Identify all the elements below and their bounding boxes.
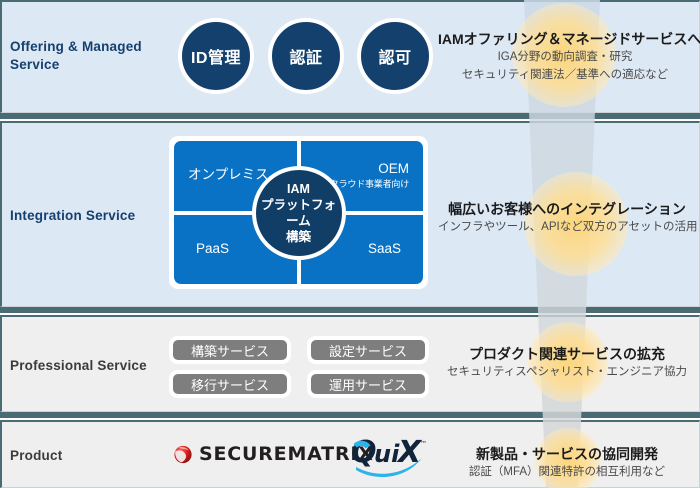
band-separator-3: [0, 412, 700, 418]
svg-text:X: X: [396, 435, 423, 470]
headline-offering-managed-service: IAMオファリング＆マネージドサービスへ展開 IGA分野の動向調査・研究 セキュ…: [438, 30, 692, 84]
headline-product: 新製品・サービスの協同開発 認証（MFA）関連特許の相互利用など: [438, 445, 696, 481]
securematrix-sphere-icon: [172, 443, 194, 465]
quadrant-paas-label: PaaS: [196, 241, 229, 258]
headline-product-title: 新製品・サービスの協同開発: [438, 445, 696, 463]
quadrant-oem-label: OEM: [378, 161, 409, 178]
iam-hub-line-3: 構築: [286, 229, 311, 245]
circle-authorization[interactable]: 認可: [357, 18, 433, 94]
row-label-product: Product: [10, 447, 130, 465]
circle-id-management-label: ID管理: [191, 44, 241, 68]
service-button-migration-label: 移行サービス: [191, 375, 269, 394]
iam-hub-line-2: プラットフォーム: [256, 197, 342, 229]
headline-integration-sub-1: インフラやツール、APIなど双方のアセットの活用: [438, 219, 696, 236]
headline-offering-title: IAMオファリング＆マネージドサービスへ展開: [438, 30, 692, 48]
headline-professional-title: プロダクト関連サービスの拡充: [438, 345, 696, 363]
band-separator-1: [0, 113, 700, 119]
quix-logo[interactable]: Q ui X ™: [350, 434, 434, 480]
band-separator-2: [0, 307, 700, 313]
service-button-migration[interactable]: 移行サービス: [169, 370, 291, 398]
headline-offering-sub-1: IGA分野の動向調査・研究: [438, 49, 692, 66]
svg-text:Q: Q: [351, 435, 377, 470]
service-button-configure-label: 設定サービス: [329, 341, 407, 360]
svg-text:™: ™: [420, 440, 427, 448]
headline-offering-sub-2: セキュリティ関連法／基準への適応など: [438, 67, 692, 84]
row-label-integration-service: Integration Service: [10, 207, 180, 225]
headline-integration-service: 幅広いお客様へのインテグレーション インフラやツール、APIなど双方のアセットの…: [438, 200, 696, 236]
row-label-offering-managed-service: Offering & Managed Service: [10, 38, 170, 74]
iam-service-diagram: Offering & Managed Service ID管理 認証 認可 IA…: [0, 0, 700, 488]
securematrix-logo[interactable]: SECUREMATRIX: [172, 443, 374, 465]
quix-logo-icon: Q ui X ™: [350, 434, 434, 480]
service-button-build[interactable]: 構築サービス: [169, 336, 291, 364]
iam-platform-block: オンプレミス OEM クラウド事業者向け PaaS SaaS IAM プラットフ…: [169, 136, 428, 289]
service-button-build-label: 構築サービス: [191, 341, 269, 360]
securematrix-wordmark: SECUREMATRIX: [199, 443, 374, 465]
service-button-operations[interactable]: 運用サービス: [307, 370, 429, 398]
circle-id-management[interactable]: ID管理: [178, 18, 254, 94]
iam-hub-line-1: IAM: [287, 181, 310, 197]
quadrant-saas-label: SaaS: [368, 241, 401, 258]
row-label-product-text: Product: [10, 447, 130, 465]
headline-professional-service: プロダクト関連サービスの拡充 セキュリティスペシャリスト・エンジニア協力: [438, 345, 696, 381]
headline-product-sub-1: 認証（MFA）関連特許の相互利用など: [438, 464, 696, 481]
quadrant-on-premises-label: オンプレミス: [188, 167, 269, 184]
iam-platform-hub[interactable]: IAM プラットフォーム 構築: [252, 166, 346, 260]
row-label-line-2: Service: [10, 56, 170, 74]
headline-integration-title: 幅広いお客様へのインテグレーション: [438, 200, 696, 218]
quadrant-oem-sublabel: クラウド事業者向け: [330, 179, 409, 190]
row-label-professional-service: Professional Service: [10, 357, 185, 375]
row-label-integration-text: Integration Service: [10, 207, 180, 225]
service-button-operations-label: 運用サービス: [329, 375, 407, 394]
circle-authorization-label: 認可: [378, 44, 411, 68]
circle-authentication-label: 認証: [289, 44, 322, 68]
svg-text:ui: ui: [374, 440, 400, 468]
headline-professional-sub-1: セキュリティスペシャリスト・エンジニア協力: [438, 364, 696, 381]
iam-platform-grid: オンプレミス OEM クラウド事業者向け PaaS SaaS IAM プラットフ…: [174, 141, 423, 284]
row-label-professional-text: Professional Service: [10, 357, 185, 375]
circle-authentication[interactable]: 認証: [268, 18, 344, 94]
row-label-line-1: Offering & Managed: [10, 38, 170, 56]
service-button-configure[interactable]: 設定サービス: [307, 336, 429, 364]
